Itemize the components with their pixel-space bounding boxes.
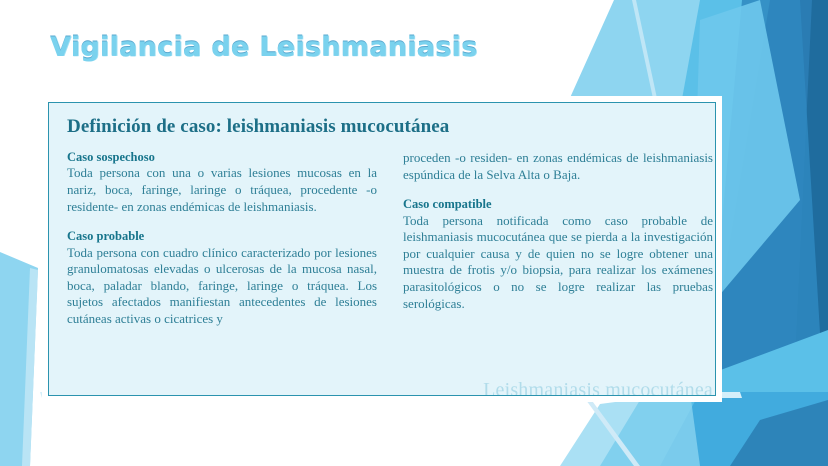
subheading-caso-compatible: Caso compatible [403, 197, 713, 211]
definition-columns: Caso sospechoso Toda persona con una o v… [67, 150, 697, 328]
slide-title: Vigilancia de Leishmaniasis [50, 32, 477, 63]
definition-content-box-inner: Definición de caso: leishmaniasis mucocu… [48, 102, 716, 396]
definition-right-column: proceden -o residen- en zonas endémicas … [403, 150, 713, 312]
bg-shape-left-wedge [0, 252, 38, 466]
definition-left-column: Caso sospechoso Toda persona con una o v… [67, 150, 377, 328]
watermark-text: Leishmaniasis mucocutánea [483, 379, 713, 396]
definition-heading: Definición de caso: leishmaniasis mucocu… [67, 117, 697, 138]
bg-shape-bottom-right-d [560, 392, 700, 466]
paragraph-caso-compatible: Toda persona notificada como caso probab… [403, 213, 713, 313]
definition-content-box: Definición de caso: leishmaniasis mucocu… [42, 96, 722, 402]
paragraph-caso-probable: Toda persona con cuadro clínico caracter… [67, 245, 377, 328]
paragraph-caso-probable-continuation: proceden -o residen- en zonas endémicas … [403, 150, 713, 183]
paragraph-caso-sospechoso: Toda persona con una o varias lesiones m… [67, 165, 377, 215]
presentation-slide: Vigilancia de Leishmaniasis Definición d… [0, 0, 828, 466]
bg-hairline-bottom-right [586, 398, 640, 466]
bg-shape-bottom-right-b [660, 392, 828, 466]
bg-shape-dark-blue-edge [790, 0, 828, 466]
subheading-caso-probable: Caso probable [67, 229, 377, 243]
bg-shape-left-wedge-light [22, 268, 38, 466]
subheading-caso-sospechoso: Caso sospechoso [67, 150, 377, 164]
bg-shape-bottom-right-c [730, 400, 828, 466]
